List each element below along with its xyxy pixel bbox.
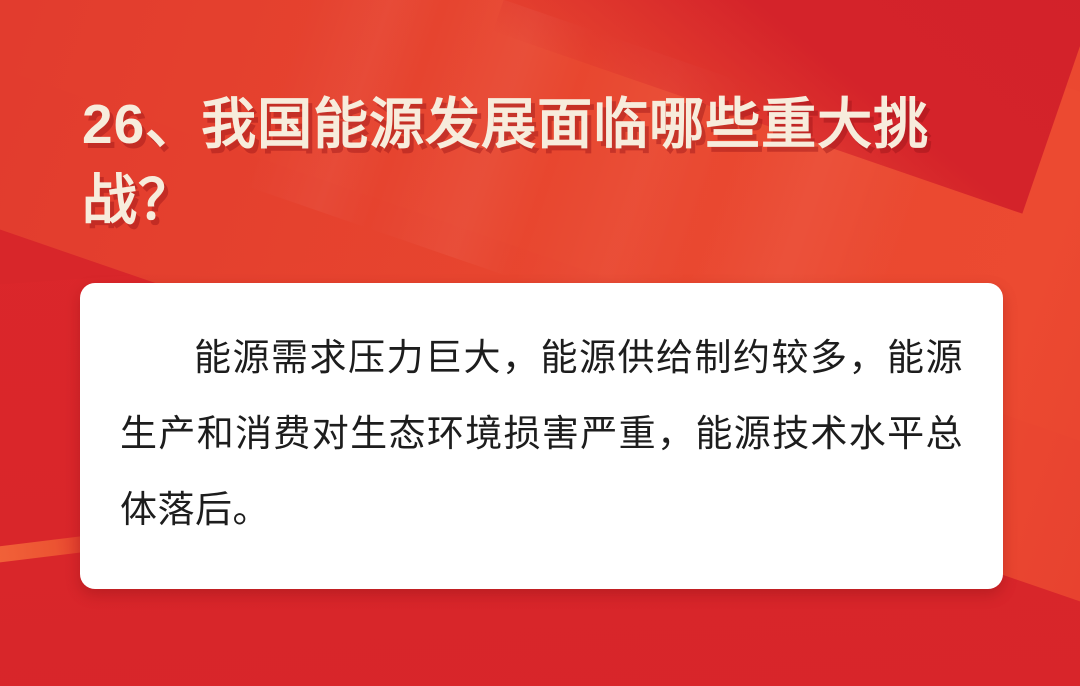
answer-body-text: 能源需求压力巨大，能源供给制约较多，能源生产和消费对生态环境损害严重，能源技术水… [120, 320, 963, 548]
answer-card: 能源需求压力巨大，能源供给制约较多，能源生产和消费对生态环境损害严重，能源技术水… [80, 283, 1003, 589]
poster-canvas: 26、我国能源发展面临哪些重大挑战？ 能源需求压力巨大，能源供给制约较多，能源生… [0, 0, 1080, 686]
page-title: 26、我国能源发展面临哪些重大挑战？ [82, 86, 1002, 238]
